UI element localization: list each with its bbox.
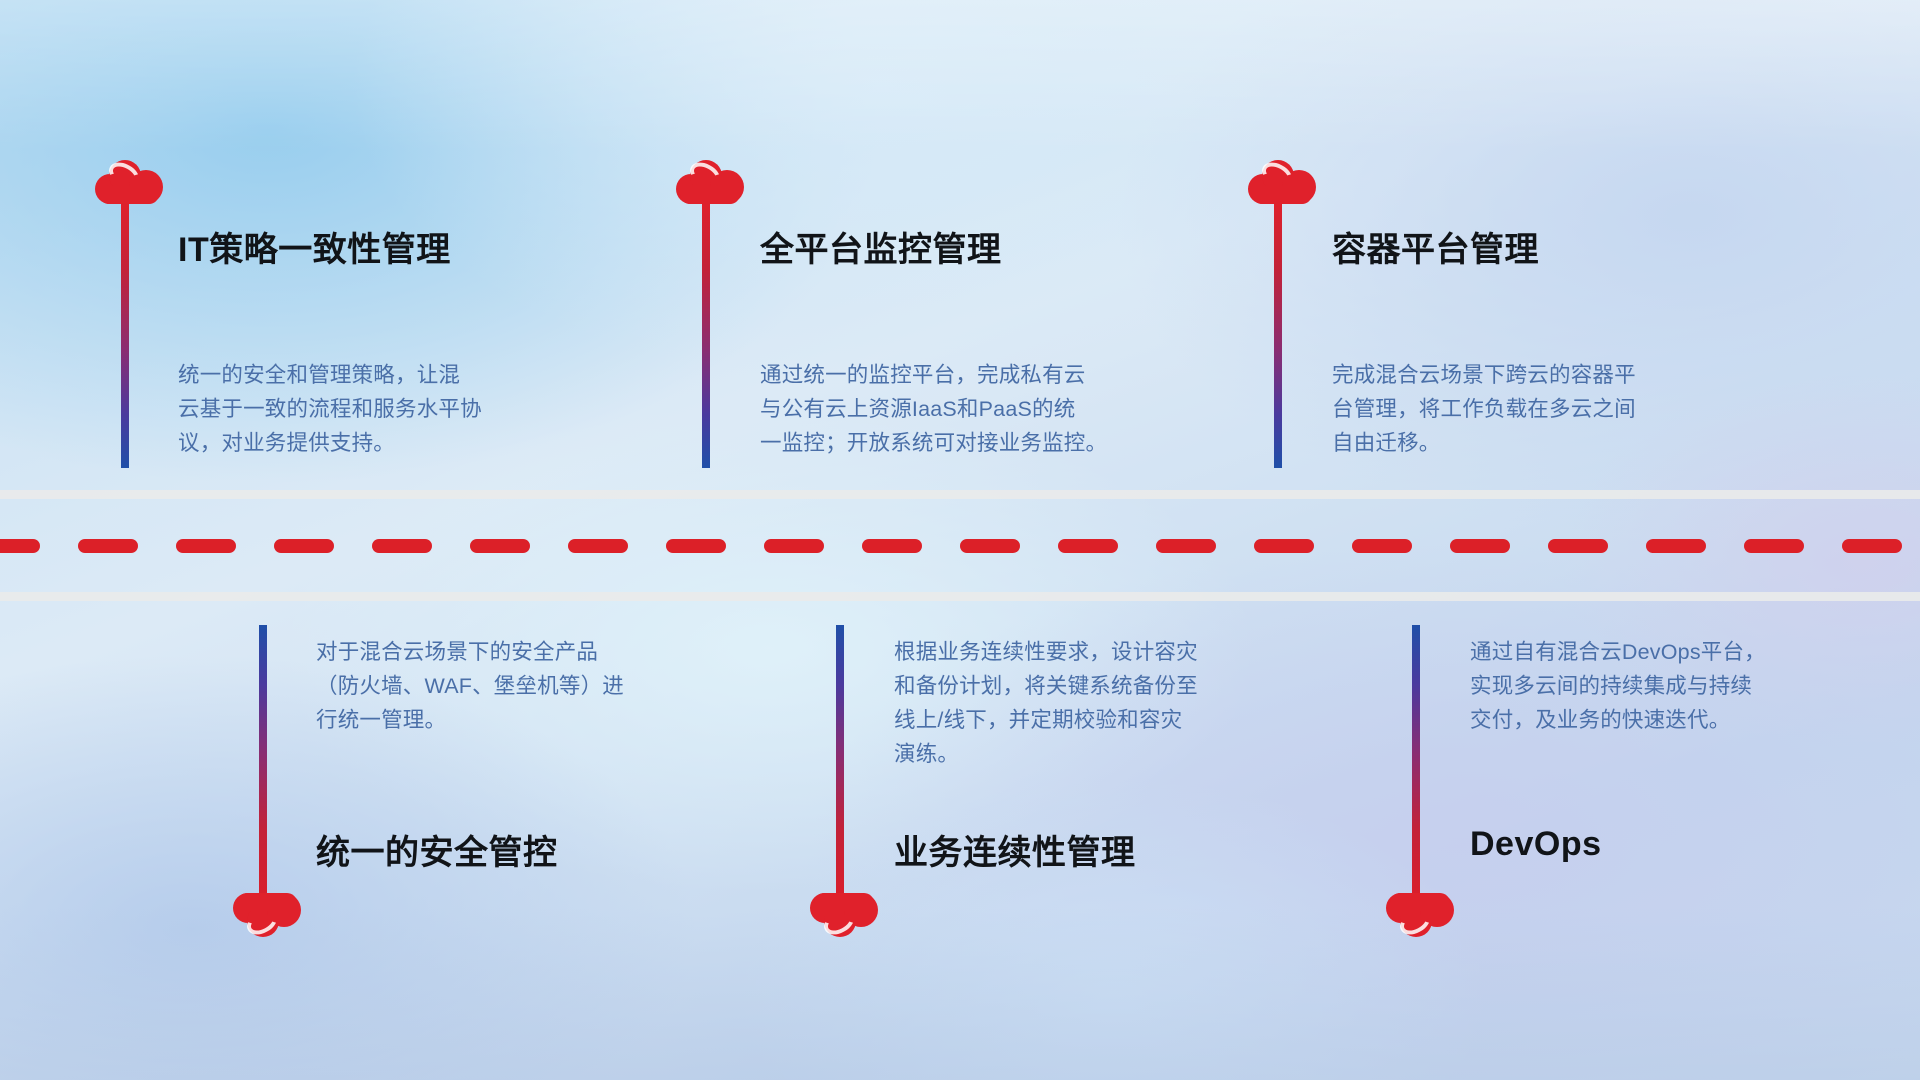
column-title: 全平台监控管理 <box>760 222 1002 271</box>
column-title: IT策略一致性管理 <box>178 222 451 271</box>
road-dash <box>274 539 334 553</box>
cloud-icon <box>676 158 744 204</box>
road-dash <box>568 539 628 553</box>
road-dashed-centerline <box>0 539 1920 553</box>
road-line-upper <box>0 490 1920 499</box>
road-dash <box>372 539 432 553</box>
column-title: 业务连续性管理 <box>894 825 1136 874</box>
road-dash <box>1352 539 1412 553</box>
stem-connector <box>1274 200 1282 468</box>
road-dash <box>862 539 922 553</box>
stem-connector <box>702 200 710 468</box>
cloud-icon <box>810 893 878 939</box>
road-dash <box>1058 539 1118 553</box>
column-body: 根据业务连续性要求，设计容灾 和备份计划，将关键系统备份至 线上/线下，并定期校… <box>894 635 1334 771</box>
column-body: 通过自有混合云DevOps平台， 实现多云间的持续集成与持续 交付，及业务的快速… <box>1470 635 1900 737</box>
stem-connector <box>836 625 844 893</box>
road-line-lower <box>0 592 1920 601</box>
road-dash <box>1744 539 1804 553</box>
road-dash <box>764 539 824 553</box>
column-body: 统一的安全和管理策略，让混 云基于一致的流程和服务水平协 议，对业务提供支持。 <box>178 358 608 460</box>
column-body: 对于混合云场景下的安全产品 （防火墙、WAF、堡垒机等）进 行统一管理。 <box>316 635 746 737</box>
cloud-icon <box>233 893 301 939</box>
road-dash <box>176 539 236 553</box>
column-body: 通过统一的监控平台，完成私有云 与公有云上资源IaaS和PaaS的统 一监控；开… <box>760 358 1210 460</box>
column-title: DevOps <box>1470 825 1602 864</box>
road-dash <box>1548 539 1608 553</box>
road-dash <box>1450 539 1510 553</box>
infographic-canvas: IT策略一致性管理 统一的安全和管理策略，让混 云基于一致的流程和服务水平协 议… <box>0 0 1920 1080</box>
road-dash <box>0 539 40 553</box>
column-title: 统一的安全管控 <box>316 825 558 874</box>
road-dash <box>666 539 726 553</box>
stem-connector <box>1412 625 1420 893</box>
cloud-icon <box>95 158 163 204</box>
road-dash <box>78 539 138 553</box>
column-title: 容器平台管理 <box>1332 222 1539 271</box>
road-dash <box>1156 539 1216 553</box>
column-body: 完成混合云场景下跨云的容器平 台管理，将工作负载在多云之间 自由迁移。 <box>1332 358 1772 460</box>
road-dash <box>470 539 530 553</box>
road-dash <box>1646 539 1706 553</box>
road-dash <box>960 539 1020 553</box>
road-dash <box>1254 539 1314 553</box>
cloud-icon <box>1248 158 1316 204</box>
cloud-icon <box>1386 893 1454 939</box>
stem-connector <box>121 200 129 468</box>
road-dash <box>1842 539 1902 553</box>
stem-connector <box>259 625 267 893</box>
